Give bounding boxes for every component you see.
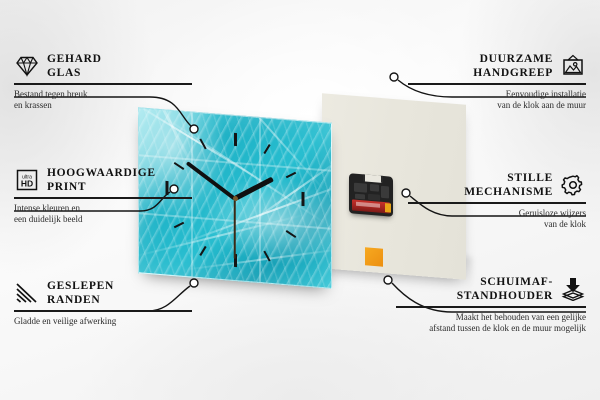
- feature-schuimafstandhouder[interactable]: SCHUIMAF- STANDHOUDER Maakt het behouden…: [396, 275, 586, 335]
- feature-desc-line1: Geruisloze wijzers: [408, 208, 586, 220]
- svg-text:HD: HD: [21, 179, 33, 189]
- feature-stille-mechanisme[interactable]: STILLE MECHANISME Geruisloze wijzers van…: [408, 171, 586, 231]
- ultra-hd-icon: ultra HD: [14, 168, 40, 192]
- feature-divider: [14, 197, 192, 199]
- feature-divider: [14, 310, 192, 312]
- feature-duurzame-handgreep[interactable]: DUURZAME HANDGREEP Eenvoudige installati…: [408, 52, 586, 112]
- battery-label: [356, 202, 380, 208]
- feature-title-line1: GESLEPEN: [47, 279, 114, 293]
- movement-detail: [355, 194, 365, 200]
- clock-movement: [349, 173, 393, 217]
- movement-detail: [354, 183, 367, 193]
- feature-title-line1: STILLE: [464, 171, 553, 185]
- feature-geslepen-randen[interactable]: GESLEPEN RANDEN Gladde en veilige afwerk…: [14, 279, 192, 327]
- framed-picture-icon: [560, 54, 586, 78]
- diamond-icon: [14, 54, 40, 78]
- feature-header: GESLEPEN RANDEN: [14, 279, 192, 307]
- feature-header: GEHARD GLAS: [14, 52, 192, 80]
- feature-desc-line2: een duidelijk beeld: [14, 214, 192, 226]
- feature-title-line1: GEHARD: [47, 52, 102, 66]
- feature-title-line1: SCHUIMAF-: [457, 275, 553, 289]
- feature-divider: [396, 306, 586, 308]
- feature-header: STILLE MECHANISME: [408, 171, 586, 199]
- feature-desc-line1: Gladde en veilige afwerking: [14, 316, 192, 328]
- movement-detail: [381, 186, 389, 199]
- clock-centre-pin: [233, 196, 238, 201]
- feature-title-line2: RANDEN: [47, 293, 114, 307]
- feature-gehard-glas[interactable]: GEHARD GLAS Bestand tegen breuk en krass…: [14, 52, 192, 112]
- infographic-canvas: GEHARD GLAS Bestand tegen breuk en krass…: [0, 0, 600, 400]
- feature-divider: [408, 202, 586, 204]
- feature-desc-line1: Intense kleuren en: [14, 203, 192, 215]
- feature-hoogwaardige-print[interactable]: ultra HD HOOGWAARDIGE PRINT Intense kleu…: [14, 166, 192, 226]
- feature-header: ultra HD HOOGWAARDIGE PRINT: [14, 166, 192, 194]
- feature-desc-line2: van de klok: [408, 219, 586, 231]
- foam-spacer-pad: [365, 247, 383, 266]
- movement-detail: [370, 184, 379, 192]
- feature-title-line2: GLAS: [47, 66, 102, 80]
- bevelled-edge-icon: [14, 281, 40, 305]
- feature-title-line2: PRINT: [47, 180, 156, 194]
- feature-title-line1: DUURZAME: [473, 52, 553, 66]
- clock-second-hand: [234, 199, 236, 259]
- spacer-pad-icon: [560, 277, 586, 301]
- feature-desc-line2: en krassen: [14, 100, 192, 112]
- feature-title-line1: HOOGWAARDIGE: [47, 166, 156, 180]
- feature-divider: [408, 83, 586, 85]
- feature-desc-line2: van de klok aan de muur: [408, 100, 586, 112]
- feature-desc-line2: afstand tussen de klok en de muur mogeli…: [396, 323, 586, 335]
- feature-desc-line1: Maakt het behouden van een gelijke: [396, 312, 586, 324]
- feature-title-line2: STANDHOUDER: [457, 289, 553, 303]
- feature-desc-line1: Bestand tegen breuk: [14, 89, 192, 101]
- battery-positive-terminal: [385, 203, 391, 212]
- movement-detail: [368, 194, 380, 201]
- clock-minute-hand: [186, 161, 236, 200]
- feature-header: SCHUIMAF- STANDHOUDER: [396, 275, 586, 303]
- clock-hour-hand: [234, 177, 274, 201]
- feature-title-line2: HANDGREEP: [473, 66, 553, 80]
- feature-divider: [14, 83, 192, 85]
- feature-title-line2: MECHANISME: [464, 185, 553, 199]
- feature-header: DUURZAME HANDGREEP: [408, 52, 586, 80]
- gear-icon: [560, 173, 586, 197]
- feature-desc-line1: Eenvoudige installatie: [408, 89, 586, 101]
